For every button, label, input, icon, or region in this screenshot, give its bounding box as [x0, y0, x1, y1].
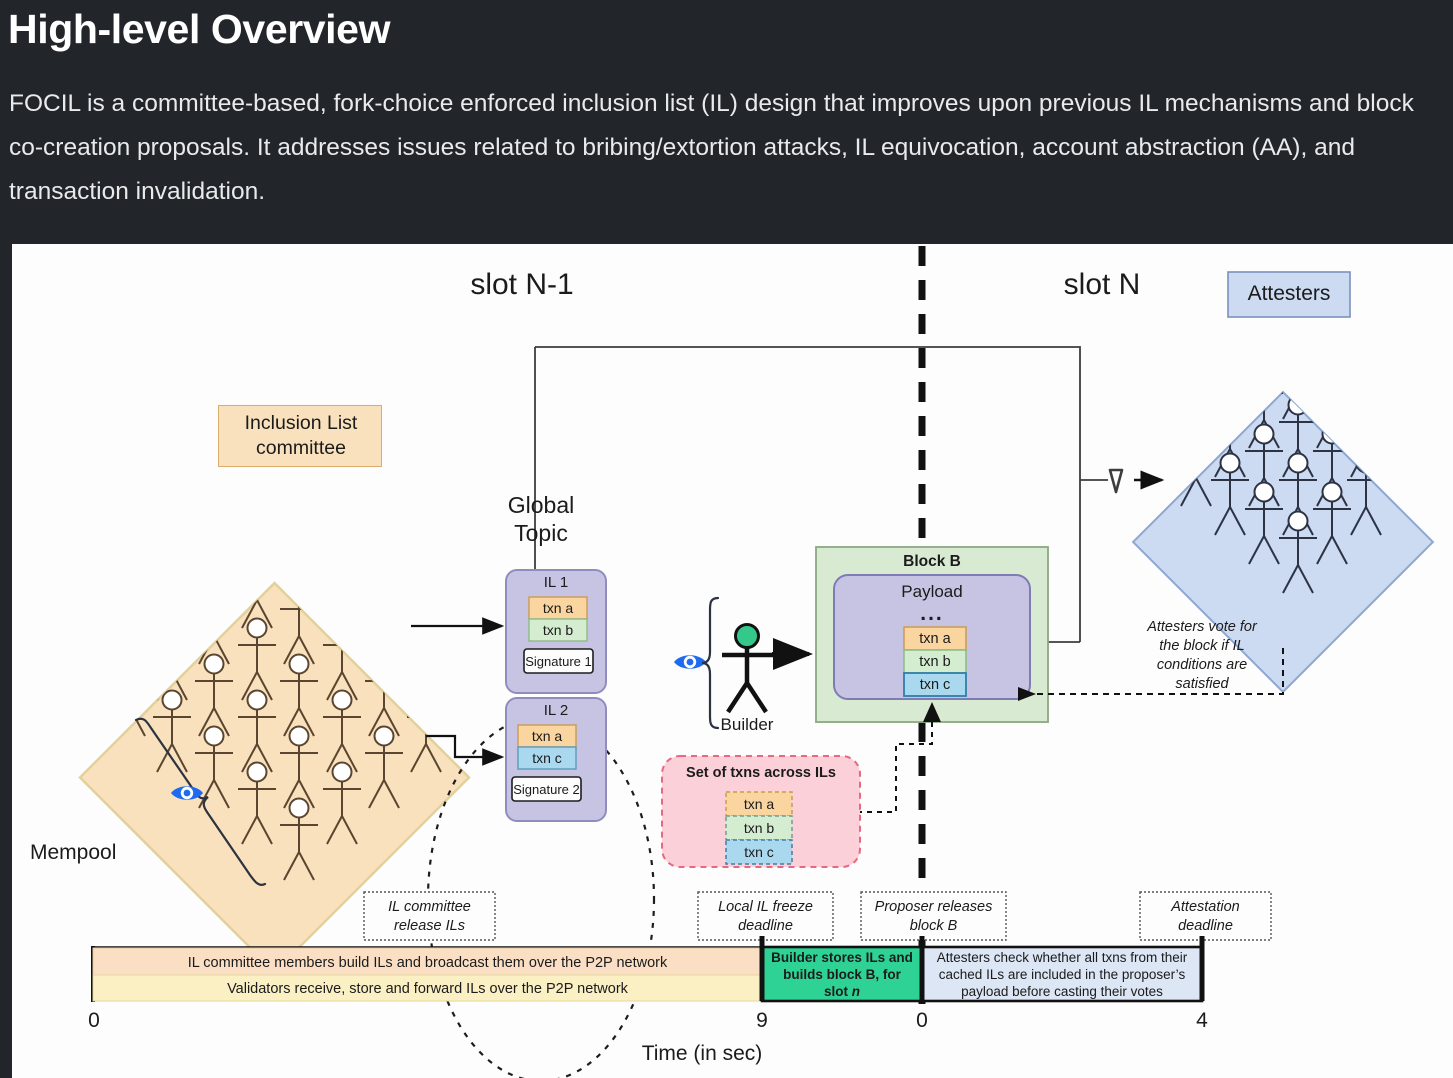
txn-set-title: Set of txns across ILs	[662, 765, 860, 781]
page-description: FOCIL is a committee-based, fork-choice …	[9, 82, 1446, 214]
callout-0-line2: release ILs	[364, 918, 495, 934]
committee-label-line1: Inclusion List	[219, 412, 383, 435]
bar-builder-line3: slot n	[762, 984, 922, 999]
attesters-note-line1: Attesters vote for	[1112, 619, 1292, 635]
bar-validators-text: Validators receive, store and forward IL…	[93, 981, 762, 997]
callout-2-line2: block B	[861, 918, 1006, 934]
page-title: High-level Overview	[8, 6, 390, 53]
il1-title: IL 1	[506, 574, 606, 591]
il2-txn-a-label: txn a	[518, 728, 576, 744]
committee-label-line2: committee	[219, 437, 383, 460]
tick-label-0a: 0	[74, 1009, 114, 1033]
il1-signature-label: Signature 1	[524, 654, 593, 669]
slot-label-left: slot N-1	[412, 268, 632, 302]
callout-2-line1: Proposer releases	[861, 899, 1006, 915]
il2-signature-label: Signature 2	[512, 782, 581, 797]
callout-0-line1: IL committee	[364, 899, 495, 915]
callout-1-line2: deadline	[698, 918, 833, 934]
tick-label-4: 4	[1182, 1009, 1222, 1033]
slot-label-right: slot N	[1012, 268, 1192, 302]
block-b-title: Block B	[816, 553, 1048, 571]
mempool-label: Mempool	[30, 841, 116, 865]
bar-attesters-line2: cached ILs are included in the proposer’…	[922, 967, 1202, 982]
callout-1-line1: Local IL freeze	[698, 899, 833, 915]
il1-txn-a-label: txn a	[529, 600, 587, 616]
block-payload-label: Payload	[834, 582, 1030, 602]
txnset-c-label: txn c	[726, 844, 792, 860]
attesters-label: Attesters	[1228, 282, 1350, 306]
page-header: High-level Overview FOCIL is a committee…	[0, 0, 1453, 244]
callout-3-line1: Attestation	[1140, 899, 1271, 915]
attesters-note-line4: satisfied	[1112, 676, 1292, 692]
block-txn-c-label: txn c	[904, 677, 966, 693]
builder-figure	[722, 625, 802, 713]
timeline-axis-label: Time (in sec)	[572, 1042, 832, 1066]
tick-label-9: 9	[742, 1009, 782, 1033]
diagram-canvas: slot N-1 slot N Inclusion List committee…	[12, 244, 1453, 1078]
builder-brace	[702, 598, 718, 728]
txnset-a-label: txn a	[726, 796, 792, 812]
il2-title: IL 2	[506, 702, 606, 719]
bar-builder-line2: builds block B, for	[762, 967, 922, 982]
bar-il-build-text: IL committee members build ILs and broad…	[93, 955, 762, 971]
callout-3-line2: deadline	[1140, 918, 1271, 934]
bar-builder-line1: Builder stores ILs and	[762, 950, 922, 965]
builder-eye-icon	[674, 655, 706, 669]
inclusion-list-committee-box: Inclusion List committee	[218, 405, 382, 467]
il2-txn-c-label: txn c	[518, 750, 576, 766]
il1-txn-b-label: txn b	[529, 622, 587, 638]
attesters-note-line3: conditions are	[1112, 657, 1292, 673]
bar-attesters-line3: payload before casting their votes	[922, 984, 1202, 999]
bar-attesters-line1: Attesters check whether all txns from th…	[922, 950, 1202, 965]
txnset-b-label: txn b	[726, 820, 792, 836]
tick-label-0b: 0	[902, 1009, 942, 1033]
global-topic-line1: Global	[471, 492, 611, 519]
builder-label: Builder	[697, 715, 797, 735]
block-txn-b-label: txn b	[904, 654, 966, 670]
block-payload-ellipsis: ...	[834, 602, 1030, 626]
block-txn-a-label: txn a	[904, 631, 966, 647]
attesters-note-line2: the block if IL	[1112, 638, 1292, 654]
global-topic-line2: Topic	[471, 520, 611, 547]
